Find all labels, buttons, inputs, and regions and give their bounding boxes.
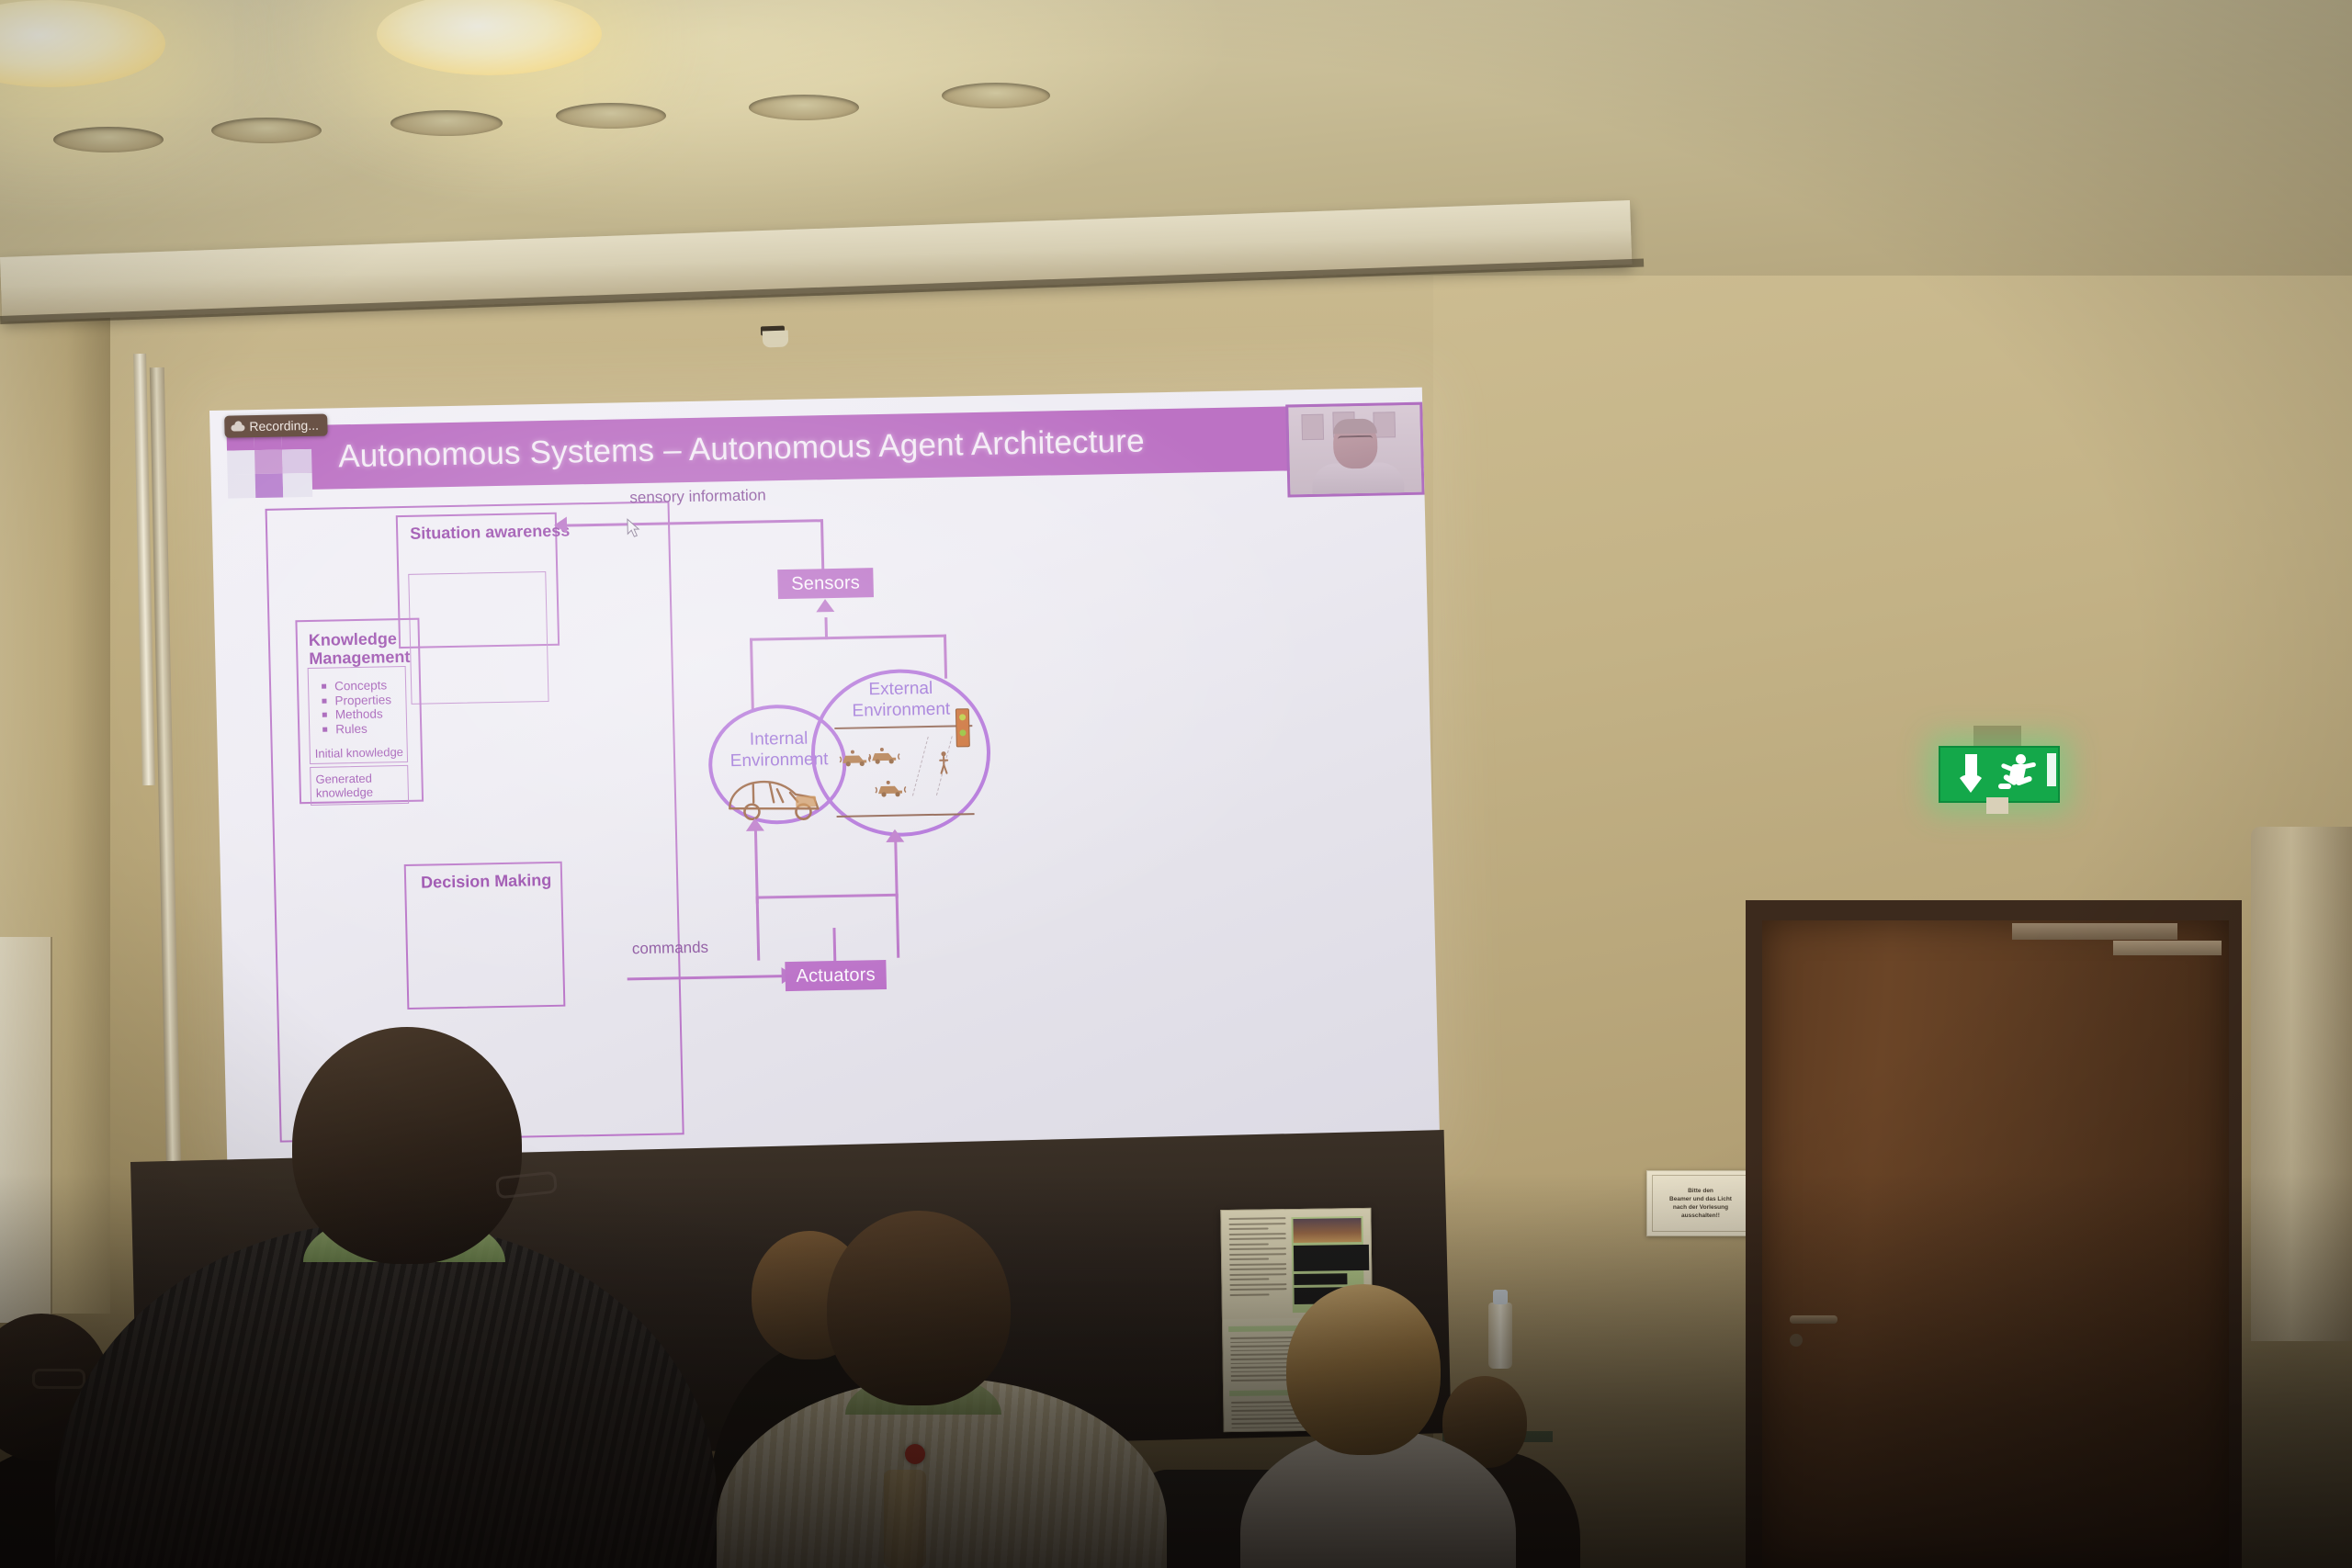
list-item: Properties [317,693,391,708]
sensors-chip[interactable]: Sensors [777,568,874,599]
wall-notice-sign: Bitte den Beamer und das Licht nach der … [1646,1170,1755,1236]
recording-label: Recording... [249,418,319,434]
lecture-hall-scene: Autonomous Systems – Autonomous Agent Ar… [0,0,2352,1568]
recessed-downlight [390,110,503,136]
door-lock [1790,1334,1803,1347]
exit-door-icon [2047,753,2056,786]
poster-abstract-text [1228,1217,1286,1299]
pedestrian-icon [938,751,950,775]
road-scene [834,725,976,821]
bullet-square-icon [322,684,326,689]
water-bottle [1488,1303,1512,1369]
bullet-label: Properties [334,693,391,708]
poster-city-photo [1293,1218,1361,1243]
actuator-bus-right-riser [896,894,900,958]
wall-column [2251,827,2352,1341]
sensor-bus-horizontal [750,635,946,641]
emergency-exit-sign [1939,746,2060,803]
recessed-downlight [749,95,859,120]
sensory-information-label: sensory information [629,486,766,507]
crosswalk-marking [912,737,929,795]
bullet-square-icon [322,713,327,717]
drink-bottle [884,1470,926,1568]
down-arrow-icon [1955,754,1986,795]
list-item: Concepts [317,678,391,694]
actuator-riser [832,928,836,963]
presenter-webcam-overlay[interactable] [1285,402,1424,498]
connected-car-icon [868,745,902,766]
generated-knowledge-label: Generated knowledge [315,772,373,800]
list-item: Methods [318,706,392,722]
audience-member-head [292,1027,522,1264]
cloud-record-icon [231,422,244,431]
road-edge-bottom [837,813,975,818]
sensory-information-arrowhead [554,517,567,534]
decision-making-label: Decision Making [421,871,552,893]
poster-title-block [1294,1245,1369,1271]
mouse-cursor-icon [627,518,642,538]
traffic-light-lamp [959,729,966,736]
bullet-label: Concepts [334,678,387,694]
bottle-cap [1493,1290,1508,1304]
external-environment-line1: External [822,677,979,701]
internal-environment-feed [754,830,759,904]
connected-car-icon [875,777,909,798]
poster-date-block [1294,1273,1347,1285]
running-person-icon [1997,753,2040,795]
exit-sign-bracket [1973,726,2021,748]
generated-knowledge-line2: knowledge [316,785,373,800]
exit-sign-stem [1986,797,2008,814]
recessed-downlight [53,127,164,152]
audience-member-head [1286,1284,1441,1455]
sensory-information-riser [820,519,824,570]
bullet-square-icon [322,698,326,703]
picture-frame-icon [1373,412,1396,437]
bullet-square-icon [322,727,327,731]
knowledge-bullets: Concepts Properties Methods Rules [317,678,392,737]
presenter-glasses [1338,435,1373,446]
recessed-downlight [211,118,322,143]
audience-member-head [827,1211,1011,1405]
recording-badge[interactable]: Recording... [224,414,328,438]
external-environment-feed [894,841,898,898]
recessed-downlight [942,83,1050,108]
traffic-light-lamp [959,714,966,720]
situation-awareness-label: Situation awareness [410,521,571,543]
wall-notice-line-1: Bitte den [1688,1188,1713,1194]
presenter-hair [1333,419,1377,434]
bullet-label: Methods [335,706,383,721]
wall-notice-inner: Bitte den Beamer und das Licht nach der … [1652,1175,1749,1232]
slide-title-bar: Autonomous Systems – Autonomous Agent Ar… [304,404,1423,490]
page-title: Autonomous Systems – Autonomous Agent Ar… [305,423,1146,476]
wall-notice-line-3: nach der Vorlesung [1673,1204,1728,1211]
actuators-chip[interactable]: Actuators [785,960,887,991]
badge-button [905,1444,925,1464]
recessed-downlight [556,103,666,129]
vehicle-interior-icon [726,773,824,823]
actuator-bus-horizontal [756,894,899,899]
wall-notice-line-2: Beamer und das Licht [1669,1196,1732,1202]
picture-frame-icon [1301,414,1324,440]
door-handle[interactable] [1790,1315,1837,1324]
left-wall-panel [0,937,52,1323]
door-plate [2113,941,2222,955]
room-door[interactable] [1762,920,2229,1568]
commands-label: commands [632,939,709,959]
generated-knowledge-line1: Generated [315,772,372,786]
sensor-bus-left-drop [750,638,754,710]
eyeglasses [32,1369,85,1389]
wall-notice-line-4: ausschalten!! [1681,1213,1720,1219]
door-closer [2012,923,2177,940]
bullet-label: Rules [335,721,367,736]
sensor-bus-right-drop [944,635,947,679]
sensors-arrowhead [816,599,834,612]
list-item: Rules [318,721,392,737]
situation-awareness-inner-box [408,571,548,705]
traffic-light-icon [955,708,970,747]
connected-car-icon [839,747,873,768]
initial-knowledge-label: Initial knowledge [315,745,403,761]
screen-pull-knob [763,331,789,348]
actuator-bus-left-riser [756,897,761,961]
